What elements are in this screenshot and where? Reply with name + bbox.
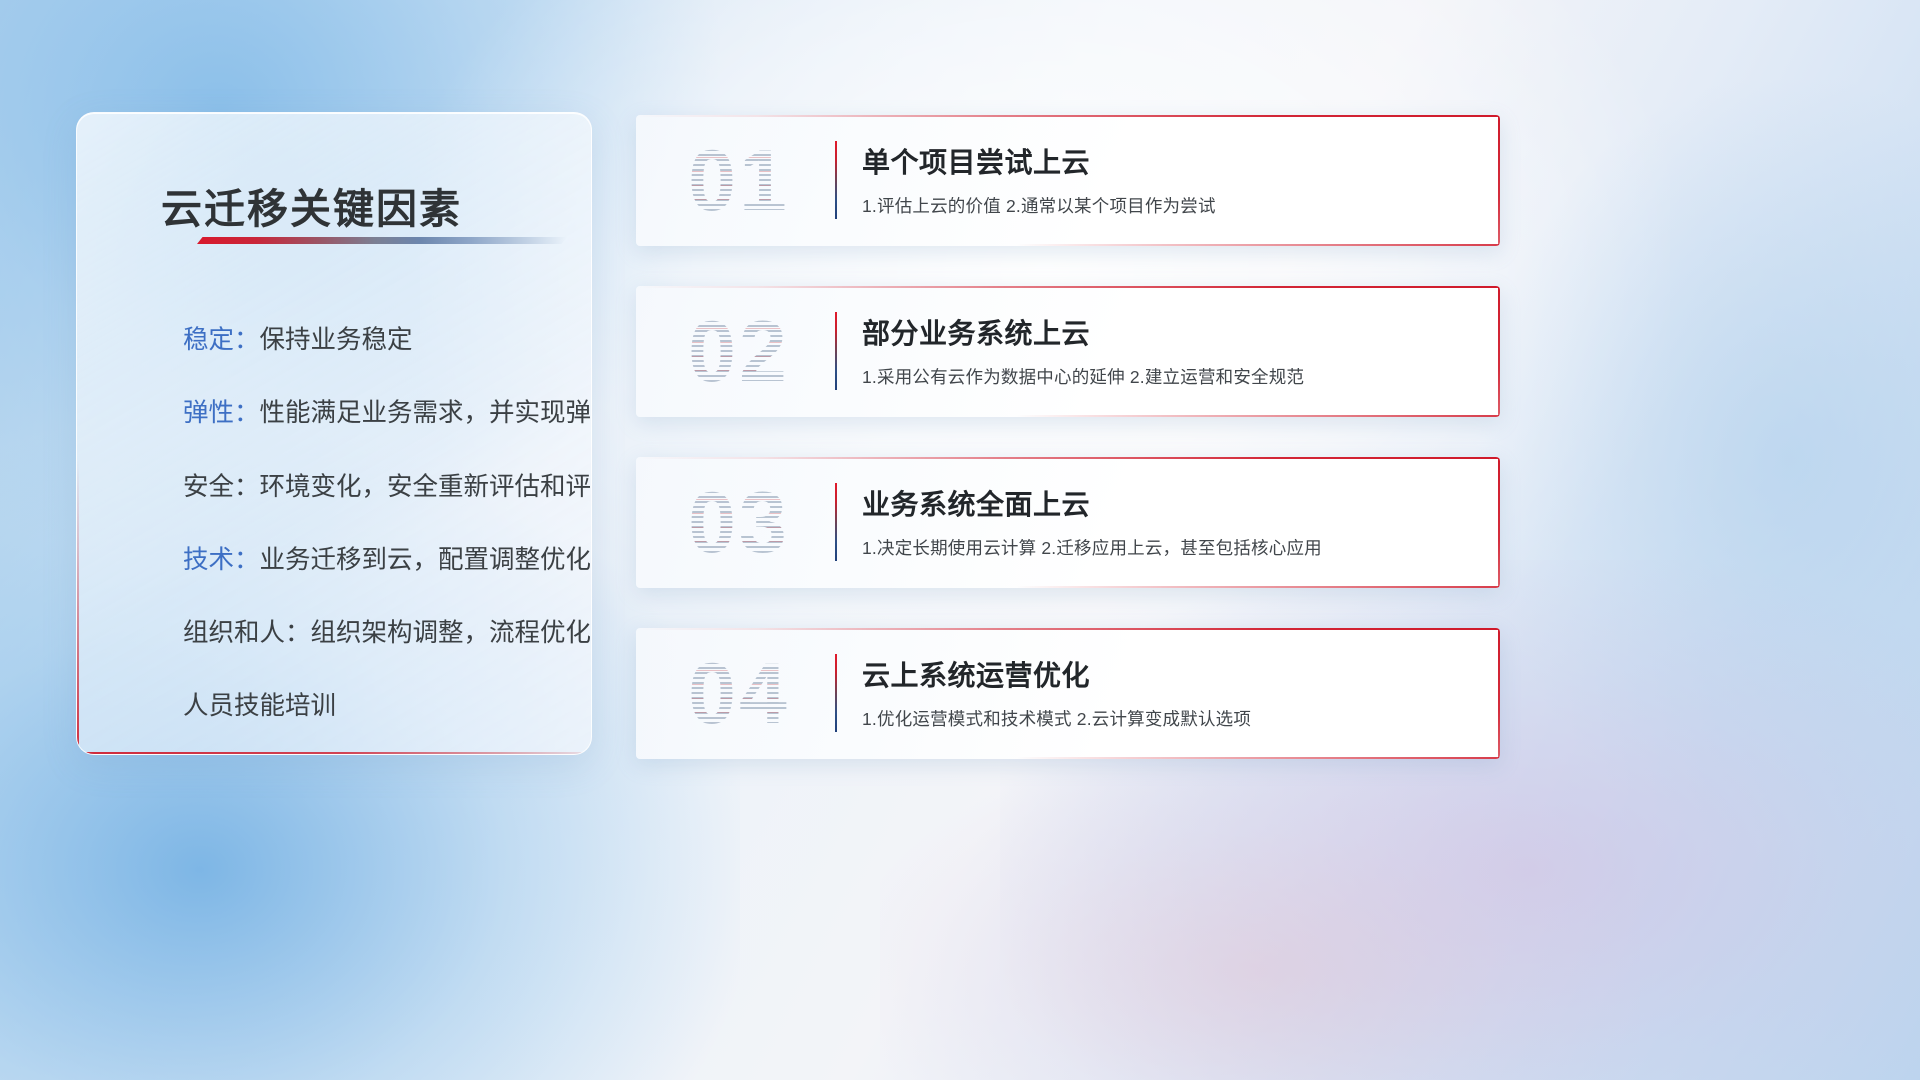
card-top-accent-line — [636, 457, 1500, 459]
card-top-accent-line — [636, 628, 1500, 630]
stage-card[interactable]: 04 04 云上系统运营优化 1.优化运营模式和技术模式 2.云计算变成默认选项 — [636, 628, 1500, 759]
stage-divider-bar — [835, 654, 837, 732]
stage-description: 1.采用公有云作为数据中心的延伸 2.建立运营和安全规范 — [862, 364, 1304, 389]
stage-card[interactable]: 01 01 单个项目尝试上云 1.评估上云的价值 2.通常以某个项目作为尝试 — [636, 115, 1500, 246]
stage-divider-bar — [835, 312, 837, 390]
stage-heading: 单个项目尝试上云 — [862, 141, 1090, 181]
key-factor-row: 技术：业务迁移到云，配置调整优化 — [183, 541, 592, 579]
stage-number-tint: 04 — [664, 642, 814, 746]
card-right-accent-line — [1498, 457, 1500, 588]
stage-heading: 部分业务系统上云 — [862, 312, 1090, 352]
key-factor-text: 环境变化，安全重新评估和评审 — [260, 473, 592, 501]
slide-canvas: 云迁移关键因素 稳定：保持业务稳定弹性：性能满足业务需求，并实现弹性安全：环境变… — [0, 0, 1920, 1080]
title-underline-gradient — [197, 237, 567, 244]
key-factor-row: 人员技能培训 — [183, 687, 592, 725]
card-right-accent-line — [1498, 286, 1500, 417]
key-factor-text: 业务迁移到云，配置调整优化 — [260, 546, 592, 574]
stage-heading: 云上系统运营优化 — [862, 654, 1090, 694]
key-factor-row: 组织和人：组织架构调整，流程优化， — [183, 614, 592, 652]
page-title: 云迁移关键因素 — [161, 175, 462, 235]
key-factor-label: 组织和人： — [183, 619, 311, 647]
stage-heading: 业务系统全面上云 — [862, 483, 1090, 523]
card-bottom-accent-line — [1016, 586, 1500, 588]
card-bottom-accent-line — [1016, 244, 1500, 246]
card-top-accent-line — [636, 286, 1500, 288]
key-factor-text: 组织架构调整，流程优化， — [311, 619, 592, 647]
card-bottom-accent-line — [77, 752, 591, 754]
card-right-accent-line — [1498, 115, 1500, 246]
stage-divider-bar — [835, 141, 837, 219]
key-factor-text: 性能满足业务需求，并实现弹性 — [260, 399, 592, 427]
key-factor-text: 人员技能培训 — [183, 692, 336, 720]
key-factor-row: 弹性：性能满足业务需求，并实现弹性 — [183, 394, 592, 432]
key-factor-label: 安全： — [183, 473, 260, 501]
stage-divider-bar — [835, 483, 837, 561]
key-factors-card: 云迁移关键因素 稳定：保持业务稳定弹性：性能满足业务需求，并实现弹性安全：环境变… — [76, 112, 592, 755]
stage-number-tint: 01 — [664, 129, 814, 233]
stage-description: 1.决定长期使用云计算 2.迁移应用上云，甚至包括核心应用 — [862, 535, 1322, 560]
key-factor-label: 技术： — [183, 546, 260, 574]
key-factor-row: 安全：环境变化，安全重新评估和评审 — [183, 468, 592, 506]
key-factors-list: 稳定：保持业务稳定弹性：性能满足业务需求，并实现弹性安全：环境变化，安全重新评估… — [183, 321, 592, 726]
stage-description: 1.评估上云的价值 2.通常以某个项目作为尝试 — [862, 193, 1216, 218]
key-factor-label: 稳定： — [183, 326, 260, 354]
stage-number-tint: 03 — [664, 471, 814, 575]
key-factor-text: 保持业务稳定 — [260, 326, 413, 354]
card-bottom-accent-line — [1016, 415, 1500, 417]
stage-card[interactable]: 03 03 业务系统全面上云 1.决定长期使用云计算 2.迁移应用上云，甚至包括… — [636, 457, 1500, 588]
key-factor-label: 弹性： — [183, 399, 260, 427]
stage-description: 1.优化运营模式和技术模式 2.云计算变成默认选项 — [862, 706, 1251, 731]
key-factor-row: 稳定：保持业务稳定 — [183, 321, 592, 359]
card-bottom-accent-line — [1016, 757, 1500, 759]
stage-number-tint: 02 — [664, 300, 814, 404]
card-left-accent-line — [77, 459, 79, 754]
stage-card[interactable]: 02 02 部分业务系统上云 1.采用公有云作为数据中心的延伸 2.建立运营和安… — [636, 286, 1500, 417]
card-right-accent-line — [1498, 628, 1500, 759]
card-top-accent-line — [636, 115, 1500, 117]
